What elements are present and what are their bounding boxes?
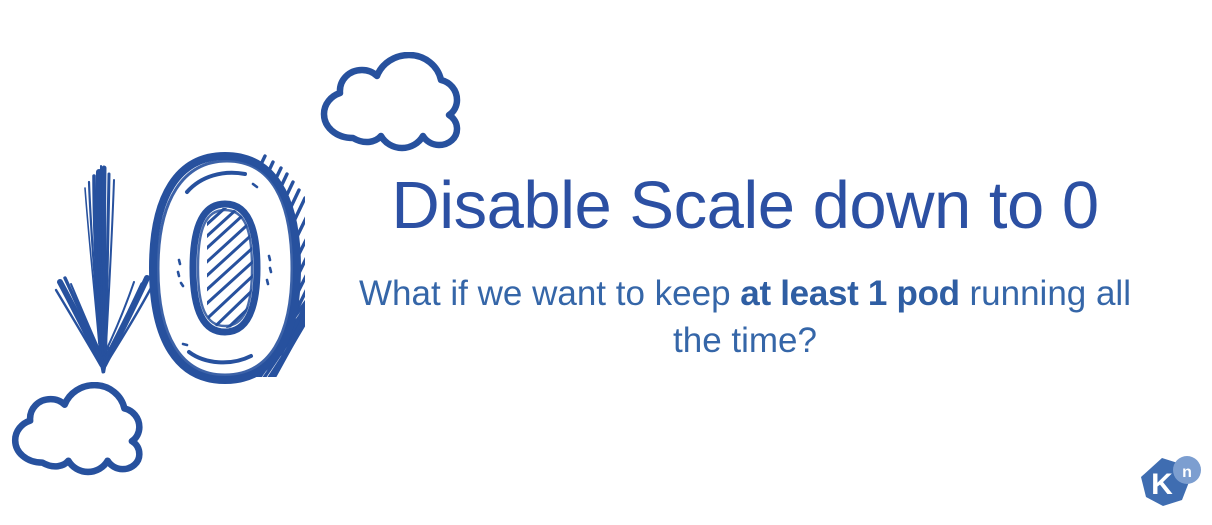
text-block: Disable Scale down to 0 What if we want … [345,172,1145,365]
arrow-down-icon [52,160,162,375]
cloud-top-icon [312,52,462,152]
cloud-bottom-icon [4,382,144,476]
subtitle-emphasis: at least 1 pod [740,274,959,313]
logo-letter-k: K [1151,468,1173,501]
zero-digit-icon [145,148,305,388]
logo-letter-n: n [1182,464,1192,481]
subtitle-lead: What if we want to keep [359,274,740,313]
slide-canvas: Disable Scale down to 0 What if we want … [0,0,1212,525]
knative-logo: K n [1132,452,1204,518]
page-subtitle: What if we want to keep at least 1 pod r… [345,239,1145,365]
page-title: Disable Scale down to 0 [345,172,1145,239]
